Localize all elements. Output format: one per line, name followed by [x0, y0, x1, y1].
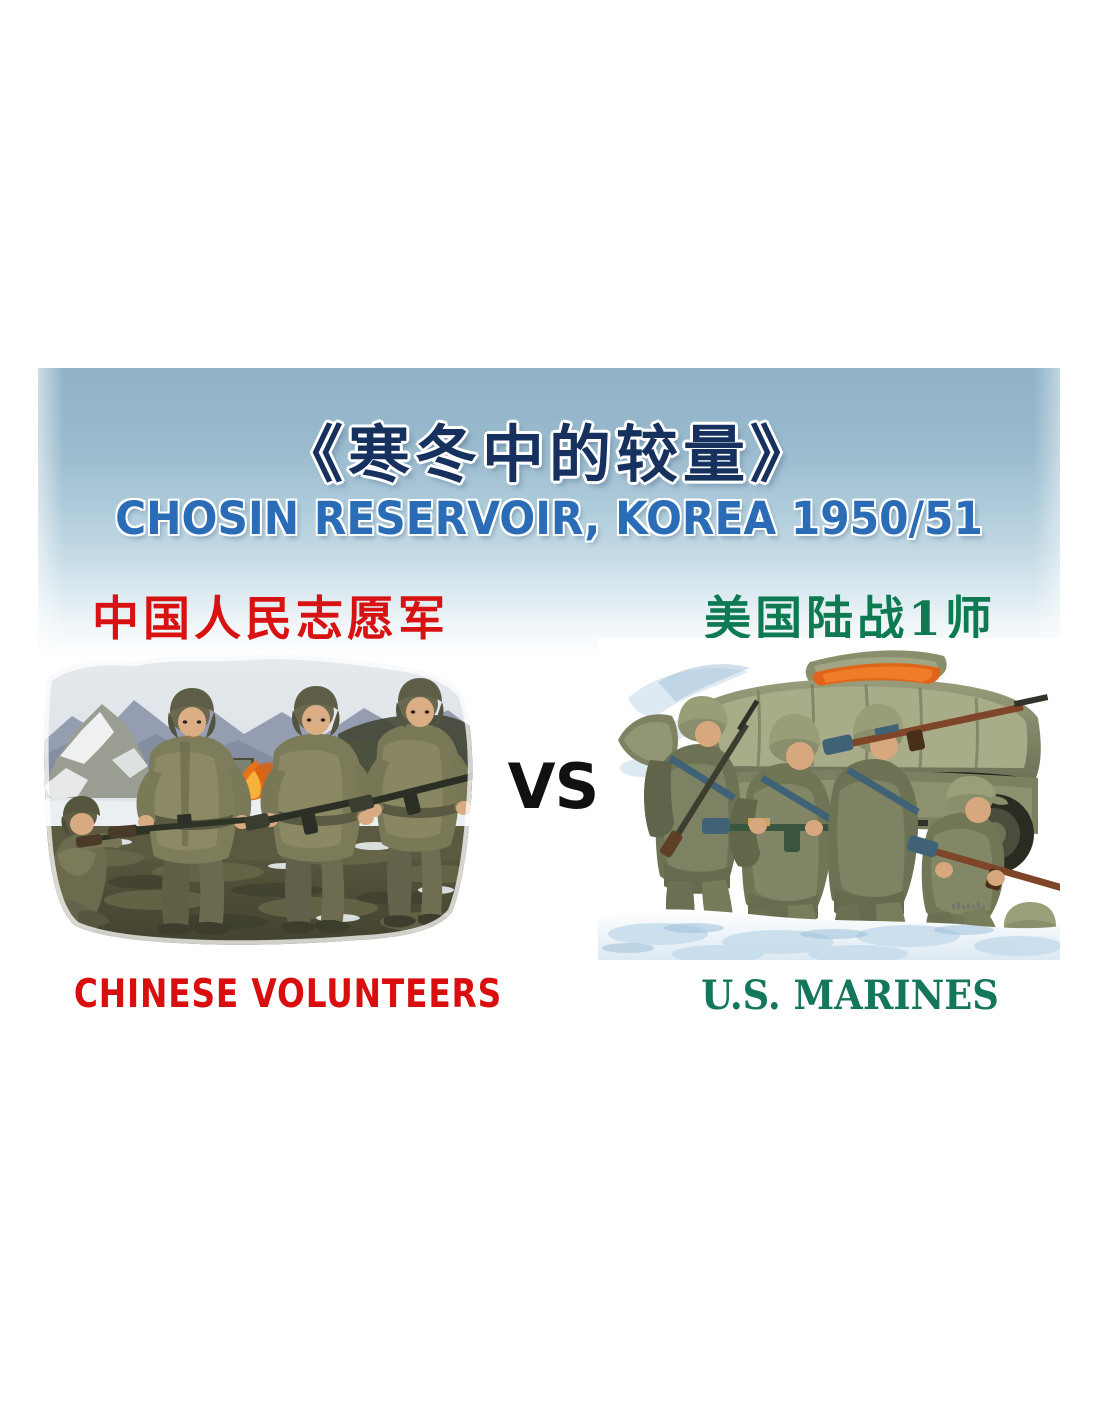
title-english: CHOSIN RESERVOIR, KOREA 1950/51 — [69, 492, 1030, 545]
us-marines-artwork — [598, 638, 1060, 960]
versus-label: VS — [493, 750, 613, 823]
title-chinese: 《寒冬中的较量》 — [38, 404, 1060, 494]
right-army-name-english: U.S. MARINES — [666, 972, 1034, 1019]
poster-banner: 《寒冬中的较量》 CHOSIN RESERVOIR, KOREA 1950/51… — [38, 368, 1060, 1013]
left-army-name-english: CHINESE VOLUNTEERS — [74, 972, 450, 1017]
chinese-volunteers-artwork — [38, 650, 483, 955]
left-army-name-chinese: 中国人民志愿军 — [48, 580, 493, 649]
